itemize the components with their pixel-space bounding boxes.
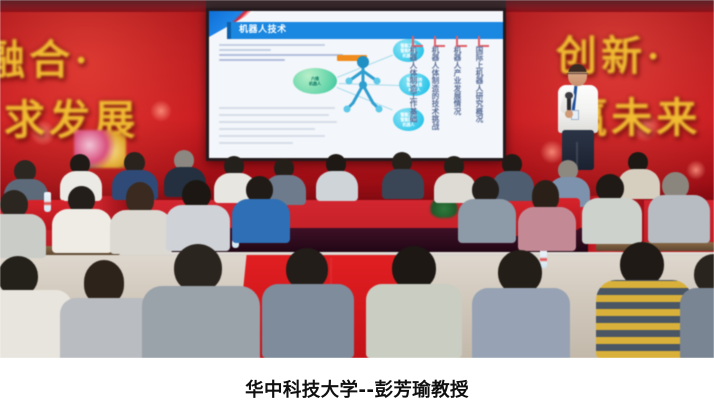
figure-caption: 华中科技大学--彭芳瑜教授	[0, 358, 714, 419]
robot-illustration-icon	[337, 55, 389, 117]
slide-footnote-text	[219, 107, 337, 149]
slide-title: 机器人技术	[239, 23, 287, 38]
microphone-head-icon	[565, 92, 573, 99]
mindmap-center-node: 六维机器人	[293, 68, 337, 94]
figure-with-caption: 融合· 求发展 创新· 赢未来 机器人技术	[0, 0, 714, 419]
slide-heading-2: 机器人体制造的技术挑战	[431, 46, 440, 130]
slide-heading-3: 机器人产业发展情况	[453, 46, 462, 115]
slide-heading-1: 机器人体制造工作基础	[409, 46, 418, 123]
glasses-icon	[567, 73, 588, 78]
water-bottle	[44, 192, 51, 212]
slide-body-text	[219, 44, 347, 64]
banner-text-left-line1: 融合·	[0, 26, 92, 86]
projection-screen: 机器人技术	[209, 11, 503, 158]
caption-text: 华中科技大学--彭芳瑜教授	[245, 376, 469, 402]
conference-photo: 融合· 求发展 创新· 赢未来 机器人技术	[0, 0, 714, 358]
speaker-hand	[565, 110, 573, 118]
slide-heading-4: 国际上机器人研究概况	[475, 46, 484, 123]
audience	[0, 150, 714, 358]
bokeh-light	[150, 100, 172, 122]
